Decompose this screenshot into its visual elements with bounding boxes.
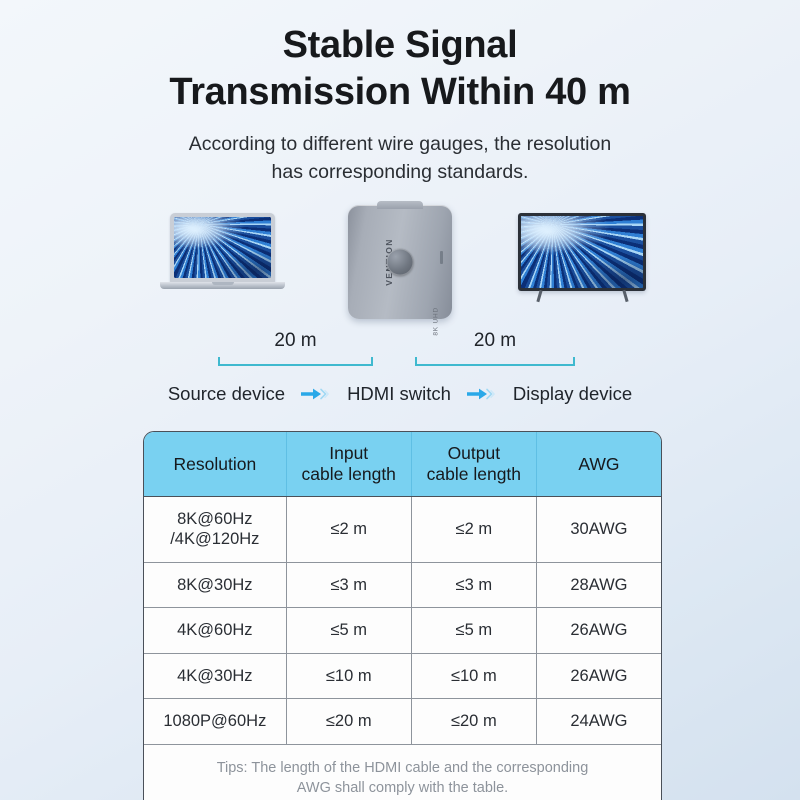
tv-leg-right bbox=[622, 290, 628, 302]
page-title: Stable Signal Transmission Within 40 m bbox=[0, 22, 800, 116]
column-header-output-cable-length: Output cable length bbox=[411, 432, 536, 497]
source-device-laptop-image bbox=[160, 213, 285, 301]
cell-input-cable-length: ≤10 m bbox=[286, 653, 411, 698]
column-header-awg: AWG bbox=[536, 432, 661, 497]
table-body: 8K@60Hz /4K@120Hz ≤2 m ≤2 m 30AWG 8K@30H… bbox=[144, 497, 661, 800]
column-header-resolution: Resolution bbox=[144, 432, 286, 497]
tips-line-2: AWG shall comply with the table. bbox=[164, 778, 641, 799]
cell-output-cable-length: ≤20 m bbox=[411, 699, 536, 744]
cell-resolution: 1080P@60Hz bbox=[144, 699, 286, 744]
cell-input-cable-length: ≤2 m bbox=[286, 497, 411, 563]
display-device-tv-image bbox=[518, 213, 646, 305]
cell-resolution: 4K@60Hz bbox=[144, 608, 286, 653]
table-row: 4K@60Hz ≤5 m ≤5 m 26AWG bbox=[144, 608, 661, 653]
cell-awg: 24AWG bbox=[536, 699, 661, 744]
title-line-2: Transmission Within 40 m bbox=[0, 69, 800, 116]
title-line-1: Stable Signal bbox=[0, 22, 800, 69]
cell-output-cable-length: ≤3 m bbox=[411, 562, 536, 607]
subtitle-line-1: According to different wire gauges, the … bbox=[0, 130, 800, 158]
laptop-screen bbox=[174, 217, 271, 278]
measure-output-label: 20 m bbox=[415, 331, 575, 357]
cell-output-cable-length: ≤5 m bbox=[411, 608, 536, 653]
device-labels-row: Source device HDMI switch Display device bbox=[0, 383, 800, 405]
tv-leg-left bbox=[536, 290, 542, 302]
cell-output-cable-length: ≤10 m bbox=[411, 653, 536, 698]
tv-frame bbox=[518, 213, 646, 291]
wallpaper-swirl-icon bbox=[174, 217, 271, 278]
source-device-label: Source device bbox=[168, 383, 285, 405]
laptop-trackpad-notch bbox=[212, 282, 234, 285]
tips-line-1: Tips: The length of the HDMI cable and t… bbox=[164, 758, 641, 779]
cell-awg: 28AWG bbox=[536, 562, 661, 607]
display-device-label: Display device bbox=[513, 383, 632, 405]
measure-input-bar bbox=[218, 357, 373, 366]
device-diagram: VENTION 8K UHD 20 m 20 m bbox=[0, 205, 800, 410]
heading-block: Stable Signal Transmission Within 40 m A… bbox=[0, 0, 800, 187]
page-subtitle: According to different wire gauges, the … bbox=[0, 130, 800, 187]
laptop-lid bbox=[170, 213, 275, 283]
measure-input-length: 20 m bbox=[218, 331, 373, 377]
arrow-right-icon bbox=[299, 386, 333, 402]
cell-input-cable-length: ≤20 m bbox=[286, 699, 411, 744]
table-row: 8K@60Hz /4K@120Hz ≤2 m ≤2 m 30AWG bbox=[144, 497, 661, 563]
measure-input-label: 20 m bbox=[218, 331, 373, 357]
cell-resolution: 8K@30Hz bbox=[144, 562, 286, 607]
wallpaper-swirl-icon bbox=[521, 216, 643, 288]
tv-screen bbox=[521, 216, 643, 288]
cell-awg: 26AWG bbox=[536, 608, 661, 653]
switch-port bbox=[440, 251, 443, 264]
measure-output-bar bbox=[415, 357, 575, 366]
tips-note: Tips: The length of the HDMI cable and t… bbox=[144, 744, 661, 800]
cell-awg: 30AWG bbox=[536, 497, 661, 563]
spec-table-element: Resolution Input cable length Output cab… bbox=[144, 432, 661, 800]
cell-input-cable-length: ≤3 m bbox=[286, 562, 411, 607]
table-row: 4K@30Hz ≤10 m ≤10 m 26AWG bbox=[144, 653, 661, 698]
table-tips-row: Tips: The length of the HDMI cable and t… bbox=[144, 744, 661, 800]
measure-output-length: 20 m bbox=[415, 331, 575, 377]
switch-select-button[interactable] bbox=[387, 248, 414, 275]
cell-resolution: 4K@30Hz bbox=[144, 653, 286, 698]
cell-input-cable-length: ≤5 m bbox=[286, 608, 411, 653]
table-header-row: Resolution Input cable length Output cab… bbox=[144, 432, 661, 497]
measurement-brackets: 20 m 20 m bbox=[0, 331, 800, 377]
cell-awg: 26AWG bbox=[536, 653, 661, 698]
arrow-right-icon bbox=[465, 386, 499, 402]
cell-resolution: 8K@60Hz /4K@120Hz bbox=[144, 497, 286, 563]
hdmi-switch-device-image: VENTION 8K UHD bbox=[348, 205, 452, 319]
hdmi-switch-label: HDMI switch bbox=[347, 383, 451, 405]
table-row: 1080P@60Hz ≤20 m ≤20 m 24AWG bbox=[144, 699, 661, 744]
subtitle-line-2: has corresponding standards. bbox=[0, 158, 800, 186]
laptop-base bbox=[160, 282, 285, 289]
switch-top-tab bbox=[377, 201, 423, 209]
cell-output-cable-length: ≤2 m bbox=[411, 497, 536, 563]
promo-page: Stable Signal Transmission Within 40 m A… bbox=[0, 0, 800, 800]
column-header-input-cable-length: Input cable length bbox=[286, 432, 411, 497]
table-row: 8K@30Hz ≤3 m ≤3 m 28AWG bbox=[144, 562, 661, 607]
spec-table: Resolution Input cable length Output cab… bbox=[143, 431, 662, 800]
